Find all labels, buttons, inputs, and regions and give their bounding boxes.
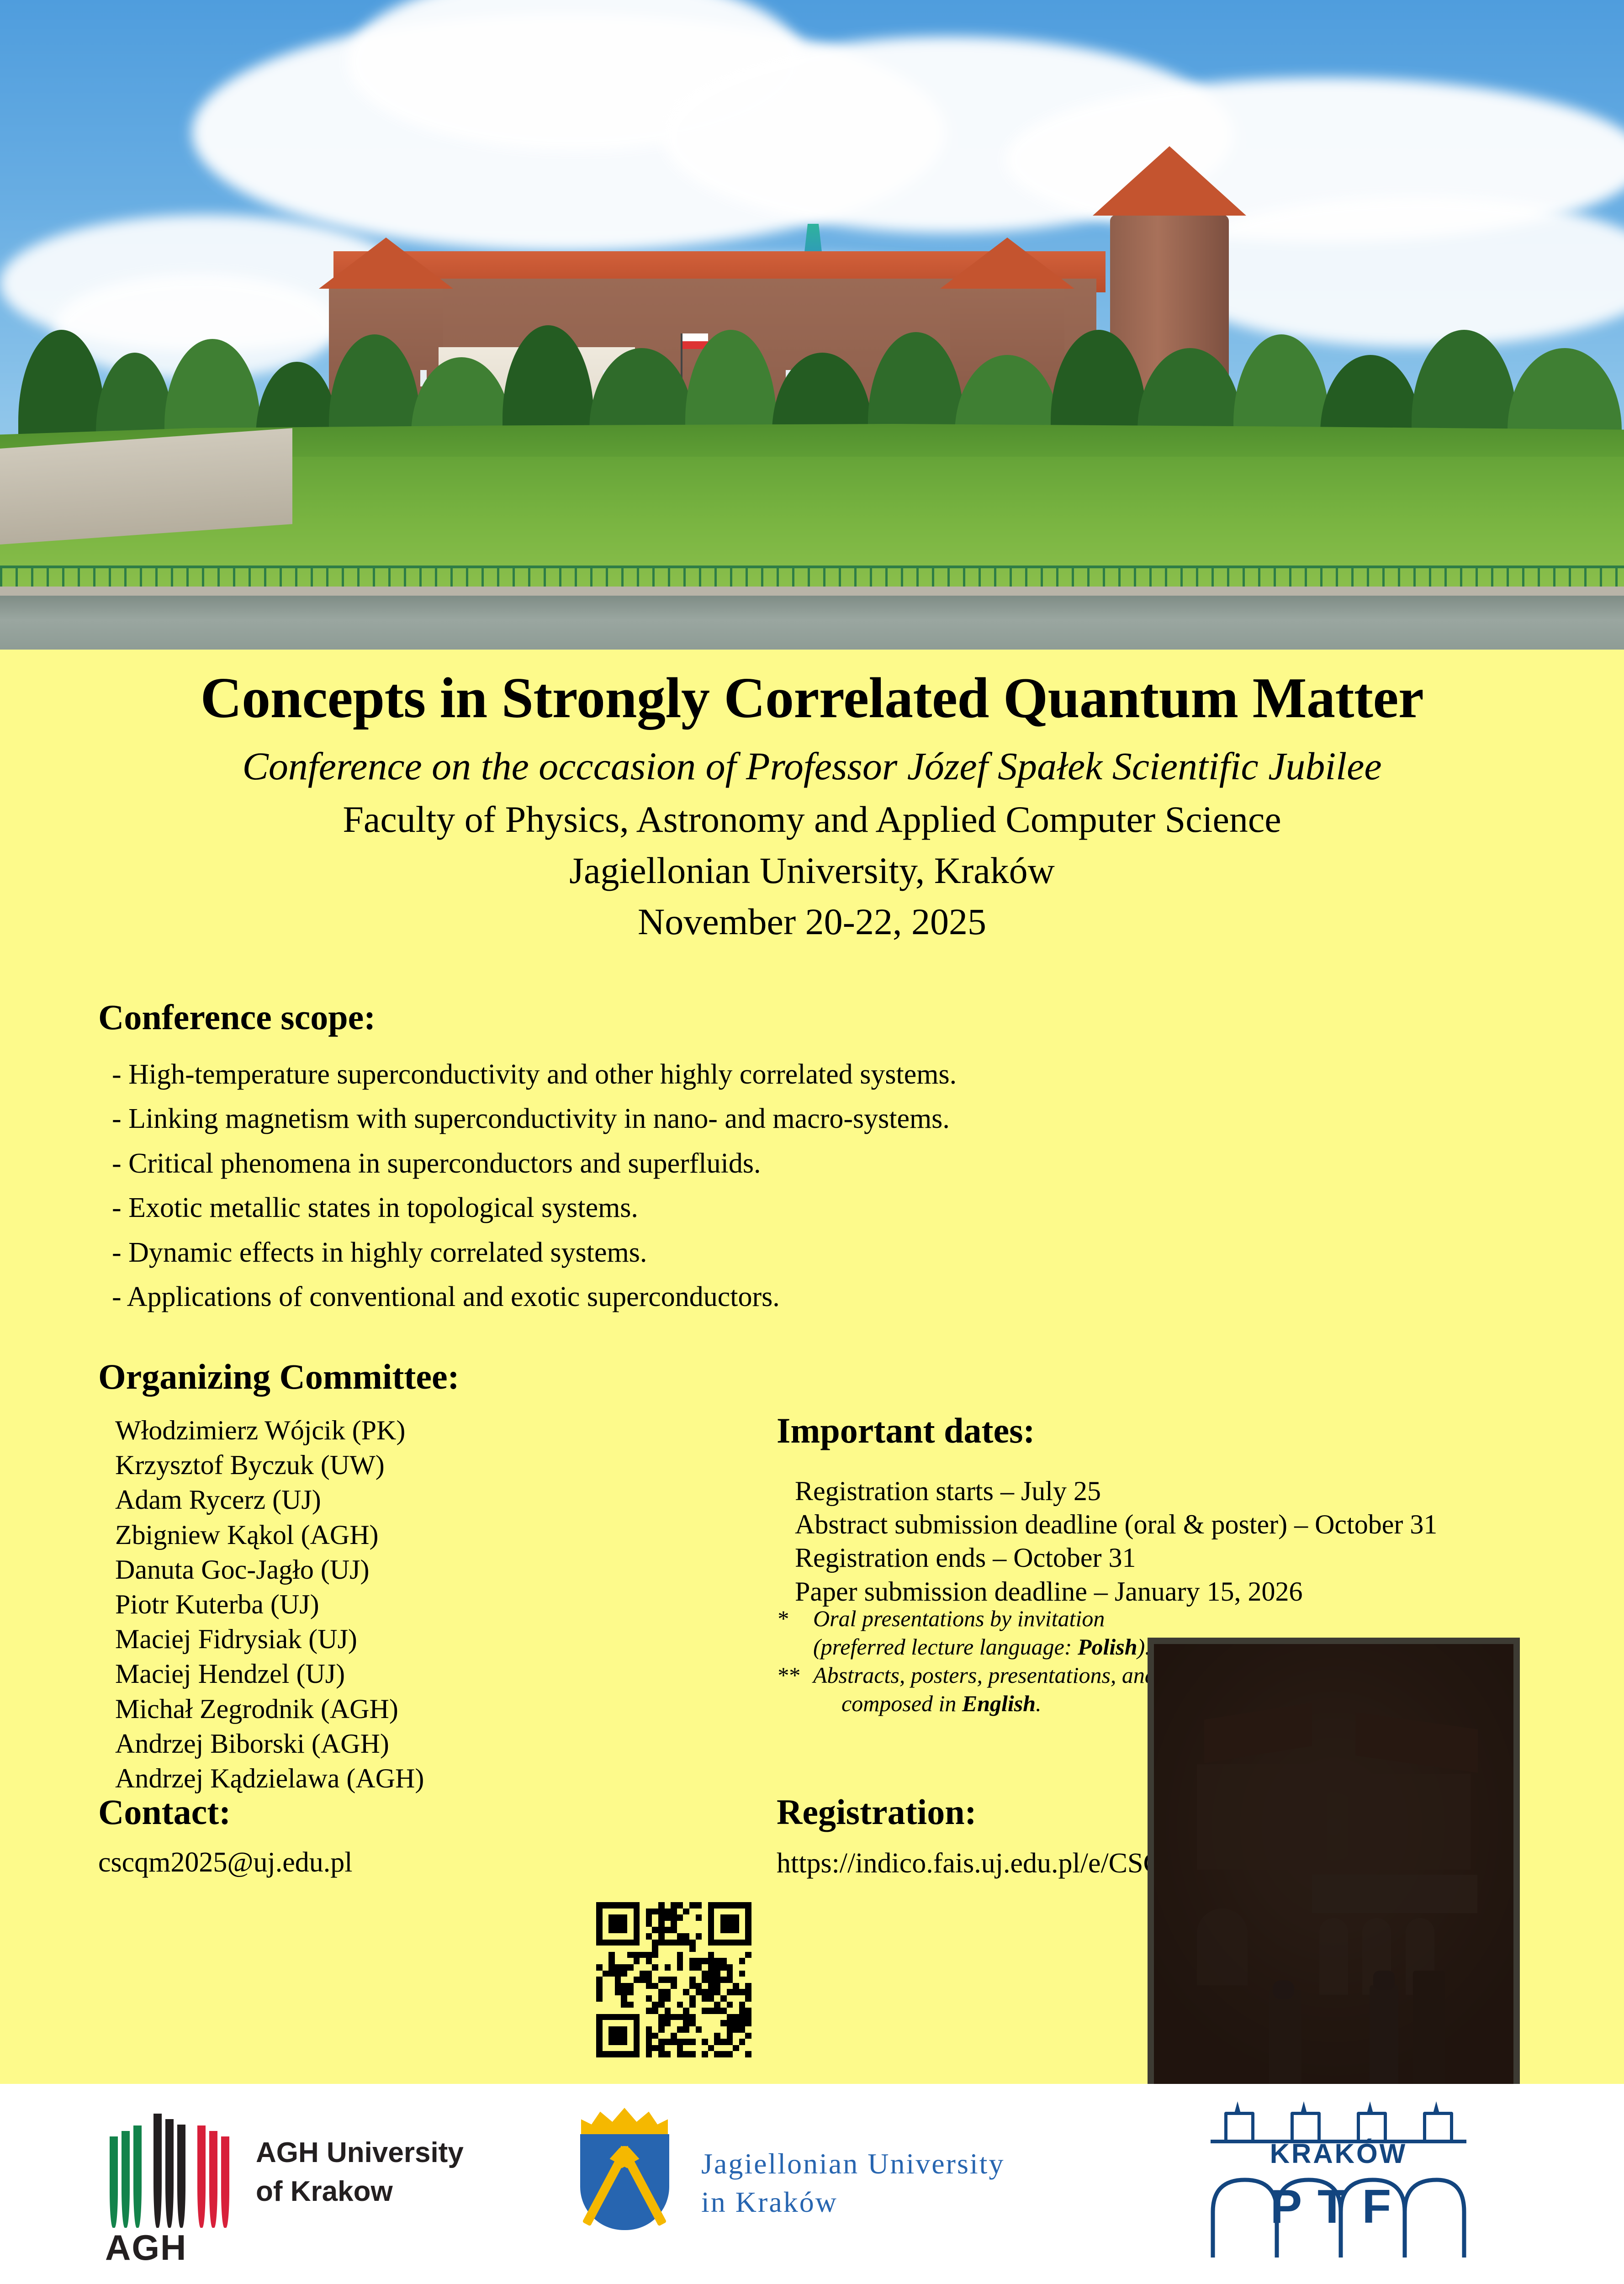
wawel-castle-photo bbox=[0, 0, 1624, 650]
asterisk-mark: * bbox=[777, 1604, 805, 1661]
list-item: Michał Zegrodnik (AGH) bbox=[115, 1692, 686, 1726]
footnote-line: . bbox=[1036, 1691, 1042, 1716]
agh-emblem-icon bbox=[110, 2114, 242, 2228]
collegium-maius-painting bbox=[1148, 1638, 1520, 2131]
conference-dates-line: November 20-22, 2025 bbox=[0, 900, 1624, 943]
organizing-committee-heading: Organizing Committee: bbox=[98, 1356, 460, 1397]
list-item: - Dynamic effects in highly correlated s… bbox=[112, 1237, 1140, 1269]
poster-subtitle: Conference on the occcasion of Professor… bbox=[0, 743, 1624, 789]
list-item: Danuta Goc-Jagło (UJ) bbox=[115, 1552, 686, 1587]
list-item: Maciej Hendzel (UJ) bbox=[115, 1656, 686, 1691]
list-item: Włodzimierz Wójcik (PK) bbox=[115, 1413, 686, 1448]
contact-email[interactable]: cscqm2025@uj.edu.pl bbox=[98, 1846, 352, 1879]
list-item: - Applications of conventional and exoti… bbox=[112, 1281, 1140, 1313]
agh-logo-line-1: AGH University bbox=[256, 2136, 464, 2169]
polish-physical-society-krakow-logo: KRAKÓW PTF bbox=[1197, 2102, 1480, 2258]
painting-archway-silhouette bbox=[1154, 1644, 1513, 2125]
list-item: Registration starts – July 25 bbox=[795, 1475, 1617, 1508]
footnote-line: composed in bbox=[841, 1691, 962, 1716]
list-item: Piotr Kuterba (UJ) bbox=[115, 1587, 686, 1622]
footer-logos: AGH AGH University of Krakow Jagiellonia… bbox=[0, 2084, 1624, 2284]
university-line: Jagiellonian University, Kraków bbox=[0, 849, 1624, 892]
list-item: Maciej Fidrysiak (UJ) bbox=[115, 1622, 686, 1656]
conference-scope-list: - High-temperature superconductivity and… bbox=[94, 1059, 1140, 1326]
list-item: - Linking magnetism with superconductivi… bbox=[112, 1103, 1140, 1135]
list-item: Krzysztof Byczuk (UW) bbox=[115, 1448, 686, 1482]
krakow-skyline-icon bbox=[1211, 2102, 1466, 2143]
riverside-railing bbox=[0, 566, 1624, 589]
list-item: Abstract submission deadline (oral & pos… bbox=[795, 1508, 1617, 1541]
list-item: - High-temperature superconductivity and… bbox=[112, 1059, 1140, 1090]
list-item: - Exotic metallic states in topological … bbox=[112, 1192, 1140, 1224]
list-item: - Critical phenomena in superconductors … bbox=[112, 1148, 1140, 1179]
list-item: Andrzej Biborski (AGH) bbox=[115, 1726, 686, 1761]
registration-heading: Registration: bbox=[777, 1792, 977, 1833]
agh-abbreviation: AGH bbox=[105, 2227, 187, 2268]
poster-body: Concepts in Strongly Correlated Quantum … bbox=[0, 650, 1624, 2084]
ptf-logo-line-2: PTF bbox=[1224, 2180, 1453, 2234]
vistula-river bbox=[0, 596, 1624, 650]
footnote-line: Oral presentations by invitation bbox=[813, 1606, 1105, 1631]
double-asterisk-mark: ** bbox=[777, 1661, 805, 1718]
footnote-emphasis: English bbox=[962, 1691, 1036, 1716]
contact-heading: Contact: bbox=[98, 1792, 231, 1833]
footnote-line: (preferred lecture language: bbox=[813, 1634, 1078, 1660]
uj-logo-line-2: in Kraków bbox=[701, 2185, 838, 2219]
ptf-logo-line-1: KRAKÓW bbox=[1224, 2138, 1453, 2169]
page-title: Concepts in Strongly Correlated Quantum … bbox=[0, 666, 1624, 731]
important-dates-heading: Important dates: bbox=[777, 1410, 1035, 1451]
list-item: Andrzej Kądzielawa (AGH) bbox=[115, 1761, 686, 1796]
conference-scope-heading: Conference scope: bbox=[98, 997, 376, 1038]
list-item: Zbigniew Kąkol (AGH) bbox=[115, 1517, 686, 1552]
registration-qr-code[interactable] bbox=[596, 1902, 751, 2057]
faculty-line: Faculty of Physics, Astronomy and Applie… bbox=[0, 798, 1624, 841]
embankment-wall bbox=[0, 428, 292, 545]
uj-logo-line-1: Jagiellonian University bbox=[701, 2147, 1005, 2181]
important-dates-list: Registration starts – July 25 Abstract s… bbox=[777, 1475, 1617, 1608]
list-item: Adam Rycerz (UJ) bbox=[115, 1482, 686, 1517]
painting-canvas bbox=[1154, 1644, 1513, 2125]
shield-icon bbox=[580, 2134, 669, 2230]
agh-university-logo: AGH AGH University of Krakow bbox=[96, 2109, 507, 2255]
agh-logo-line-2: of Krakow bbox=[256, 2175, 393, 2208]
list-item: Paper submission deadline – January 15, … bbox=[795, 1575, 1617, 1608]
footnote-text: Oral presentations by invitation (prefer… bbox=[813, 1604, 1151, 1661]
painting-frame bbox=[1148, 1638, 1520, 2131]
jagiellonian-university-logo: Jagiellonian University in Kraków bbox=[571, 2102, 1165, 2258]
footnote-emphasis: Polish bbox=[1078, 1634, 1137, 1660]
list-item: Registration ends – October 31 bbox=[795, 1541, 1617, 1575]
organizing-committee-list: Włodzimierz Wójcik (PK) Krzysztof Byczuk… bbox=[97, 1413, 686, 1796]
